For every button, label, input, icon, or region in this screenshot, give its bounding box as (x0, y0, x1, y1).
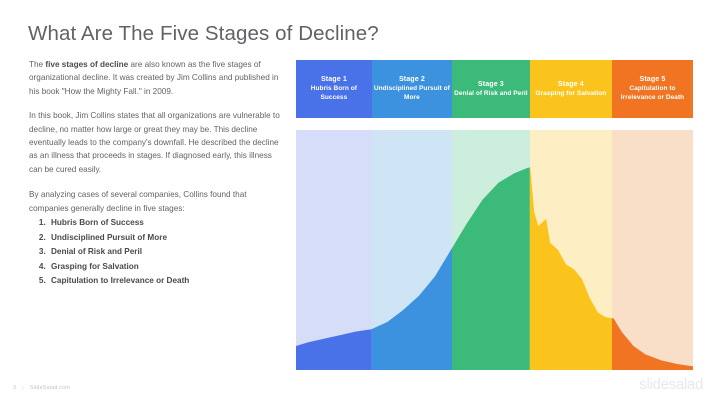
stage-header-4-label: Grasping for Salvation (535, 90, 606, 99)
list-item: Capitulation to Irrelevance or Death (48, 274, 287, 289)
area-fill-segments (296, 130, 693, 370)
stage-header-4-number: Stage 4 (558, 80, 584, 89)
stage-header-2-number: Stage 2 (399, 75, 425, 84)
stage-list: Hubris Born of Success Undisciplined Pur… (29, 216, 287, 289)
area-segment-stage-1 (296, 130, 372, 370)
stage-header-3-label: Denial of Risk and Peril (454, 90, 527, 99)
list-item: Denial of Risk and Peril (48, 245, 287, 260)
paragraph-intro-lead: The (29, 60, 45, 69)
slide-canvas: What Are The Five Stages of Decline? The… (0, 0, 720, 404)
list-item: Grasping for Salvation (48, 260, 287, 275)
stage-header-1[interactable]: Stage 1 Hubris Born of Success (296, 60, 372, 118)
stage-header-2[interactable]: Stage 2 Undisciplined Pursuit of More (372, 60, 452, 118)
stage-header-2-label: Undisciplined Pursuit of More (374, 85, 450, 102)
stage-header-1-label: Hubris Born of Success (298, 85, 370, 102)
area-segment-stage-2 (372, 130, 452, 370)
area-segment-stage-5 (612, 130, 693, 370)
stage-header-3[interactable]: Stage 3 Denial of Risk and Peril (452, 60, 530, 118)
page-title: What Are The Five Stages of Decline? (28, 22, 379, 46)
decline-area-curve (296, 130, 693, 370)
footer-site: SlideSalad.com (30, 385, 70, 391)
stage-header-ribbon: Stage 1 Hubris Born of Success Stage 2 U… (296, 60, 693, 118)
left-text-column: The five stages of decline are also know… (29, 58, 287, 289)
stage-header-4[interactable]: Stage 4 Grasping for Salvation (530, 60, 612, 118)
stage-header-3-number: Stage 3 (478, 80, 504, 89)
page-number: 3 (13, 385, 16, 391)
area-segment-stage-4 (530, 130, 612, 370)
stage-header-5-number: Stage 5 (639, 75, 665, 84)
stage-header-5-label: Capitulation to Irrelevance or Death (614, 85, 691, 102)
stage-list-intro: By analyzing cases of several companies,… (29, 188, 287, 215)
paragraph-intro-bold: five stages of decline (45, 60, 128, 69)
paragraph-book: In this book, Jim Collins states that al… (29, 109, 287, 176)
list-item: Hubris Born of Success (48, 216, 287, 231)
paragraph-intro: The five stages of decline are also know… (29, 58, 287, 98)
slide-footer: 3 | SlideSalad.com (13, 385, 70, 391)
footer-separator: | (22, 385, 24, 391)
plot-body (296, 130, 693, 370)
brand-logo: slidesalad (639, 376, 703, 393)
area-segment-stage-3 (452, 130, 530, 370)
stages-chart: Stage 1 Hubris Born of Success Stage 2 U… (296, 60, 693, 370)
stage-header-5[interactable]: Stage 5 Capitulation to Irrelevance or D… (612, 60, 693, 118)
list-item: Undisciplined Pursuit of More (48, 231, 287, 246)
stage-header-1-number: Stage 1 (321, 75, 347, 84)
